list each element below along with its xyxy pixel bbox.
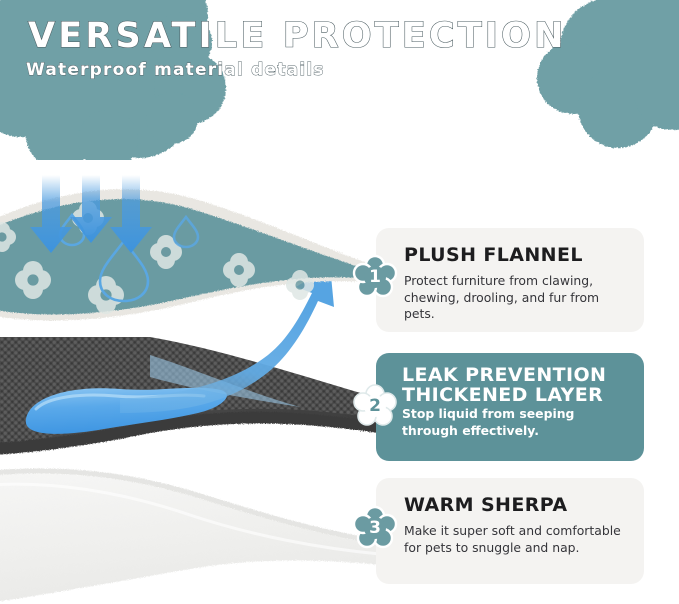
water-down-arrows: [30, 175, 152, 253]
badge-number: 3: [352, 505, 398, 551]
panel-title: PLUSH FLANNEL: [404, 245, 583, 265]
panel-title: LEAK PREVENTION THICKENED LAYER: [402, 365, 644, 406]
page-subtitle: Waterproof material details: [26, 60, 325, 80]
infographic-root: VERSATILE PROTECTION Waterproof material…: [0, 0, 679, 604]
plush-flannel-layer: [0, 189, 404, 320]
feature-panel-warm-sherpa[interactable]: WARM SHERPA Make it super soft and comfo…: [376, 478, 644, 584]
flower-badge-2: 2: [352, 383, 398, 429]
header-text-block: VERSATILE PROTECTION Waterproof material…: [0, 0, 679, 160]
feature-panel-plush-flannel[interactable]: PLUSH FLANNEL Protect furniture from cla…: [376, 228, 644, 332]
panel-body: Make it super soft and comfortable for p…: [404, 523, 630, 556]
page-title: VERSATILE PROTECTION: [28, 16, 567, 56]
flower-badge-3: 3: [352, 505, 398, 551]
feature-panel-leak-prevention[interactable]: LEAK PREVENTION THICKENED LAYER Stop liq…: [376, 353, 644, 461]
badge-number: 2: [352, 383, 398, 429]
panel-title: WARM SHERPA: [404, 495, 567, 515]
warm-sherpa-layer: [0, 471, 400, 603]
panel-body: Protect furniture from clawing, chewing,…: [404, 273, 628, 323]
panel-body: Stop liquid from seeping through effecti…: [402, 406, 630, 439]
flower-badge-1: 1: [352, 254, 398, 300]
badge-number: 1: [352, 254, 398, 300]
